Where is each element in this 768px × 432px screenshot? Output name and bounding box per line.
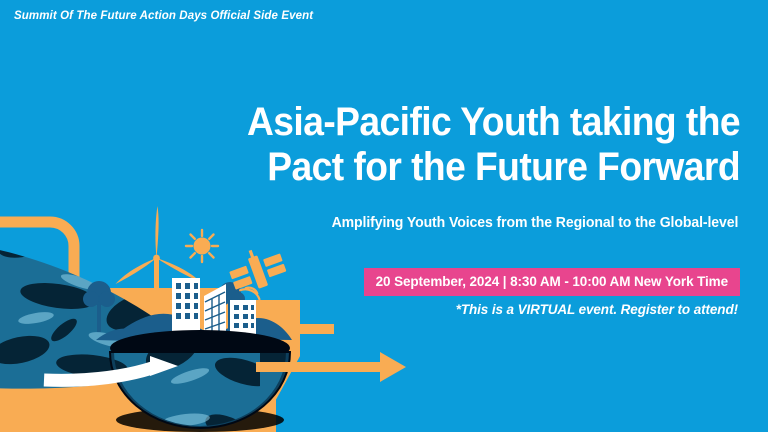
bowl-rim	[110, 330, 290, 366]
orange-arrow-icon	[256, 352, 406, 382]
bowl-shadow	[116, 408, 284, 432]
satellite-icon	[225, 241, 293, 306]
hills-shape	[96, 314, 292, 342]
orange-path-horizontal	[74, 324, 334, 334]
date-time-badge: 20 September, 2024 | 8:30 AM - 10:00 AM …	[364, 268, 740, 296]
eyebrow-text: Summit Of The Future Action Days Officia…	[14, 10, 313, 22]
blue-lower-right-cut	[258, 356, 768, 432]
page-subtitle: Amplifying Youth Voices from the Regiona…	[331, 215, 738, 231]
city-buildings-icon	[172, 278, 256, 334]
page-title: Asia-Pacific Youth taking the Pact for t…	[186, 100, 740, 190]
page-title-line-1: Asia-Pacific Youth taking the	[186, 100, 740, 145]
orange-block	[0, 300, 276, 432]
tree-icon	[215, 282, 245, 332]
tree-icon	[83, 281, 115, 332]
orange-diagonal-tail	[258, 356, 300, 432]
earth-slope-shape	[0, 230, 260, 410]
orange-ground-shape	[0, 288, 330, 432]
earth-bowl-icon	[100, 340, 310, 432]
orange-path-icon	[0, 222, 74, 330]
virtual-event-note: *This is a VIRTUAL event. Register to at…	[456, 302, 738, 317]
event-banner: Summit Of The Future Action Days Officia…	[0, 0, 768, 432]
sun-icon	[186, 230, 218, 262]
wind-turbine-icon	[116, 206, 201, 356]
page-title-line-2: Pact for the Future Forward	[186, 145, 740, 190]
title-block: Asia-Pacific Youth taking the Pact for t…	[144, 100, 740, 190]
white-arrow-icon	[44, 356, 178, 380]
